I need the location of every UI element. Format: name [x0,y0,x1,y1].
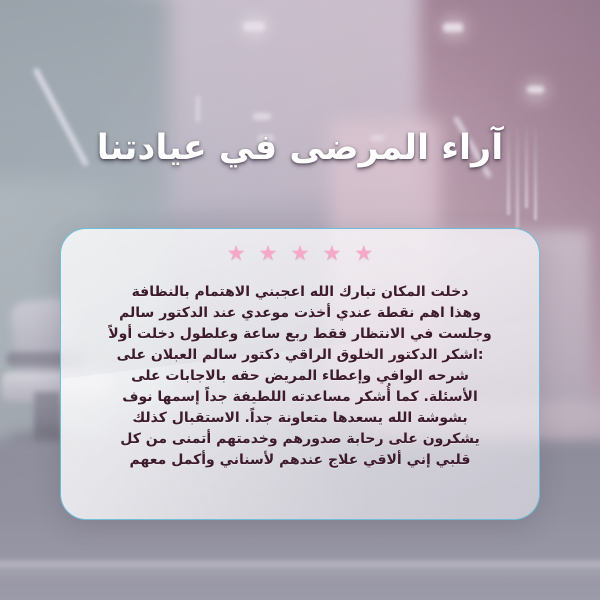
star-icon: ★ [323,243,342,264]
review-line: الأسئلة. كما أُشكر مساعدته اللطيفة جداً … [87,387,513,408]
review-line: دخلت المكان تبارك الله اعجبني الاهتمام ب… [87,282,513,303]
review-line: يشكرون على رحابة صدورهم وخدمتهم أتمنى من… [87,429,513,450]
testimonial-poster: آراء المرضى في عيادتنا ★ ★ ★ ★ ★ دخلت ال… [0,0,600,600]
star-rating: ★ ★ ★ ★ ★ [61,243,539,264]
page-title: آراء المرضى في عيادتنا [0,128,600,168]
review-line: شرحه الوافي وإعطاء المريض حقه بالاجابات … [87,366,513,387]
star-icon: ★ [291,243,310,264]
star-icon: ★ [227,243,246,264]
review-line: وهذا اهم نقطة عندي أخذت موعدي عند الدكتو… [87,303,513,324]
testimonial-card: ★ ★ ★ ★ ★ دخلت المكان تبارك الله اعجبني … [60,228,540,520]
review-line: بشوشة الله يسعدها متعاونة جداً. الاستقبا… [87,408,513,429]
review-line: وجلست في الانتظار فقط ربع ساعة وعلطول دخ… [87,324,513,345]
star-icon: ★ [259,243,278,264]
review-line: :اشكر الدكتور الخلوق الراقي دكتور سالم ا… [87,345,513,366]
star-icon: ★ [354,243,373,264]
review-text: دخلت المكان تبارك الله اعجبني الاهتمام ب… [87,282,513,471]
review-line: قلبي إني ألاقي علاج عندهم لأسناني وأكمل … [87,450,513,471]
